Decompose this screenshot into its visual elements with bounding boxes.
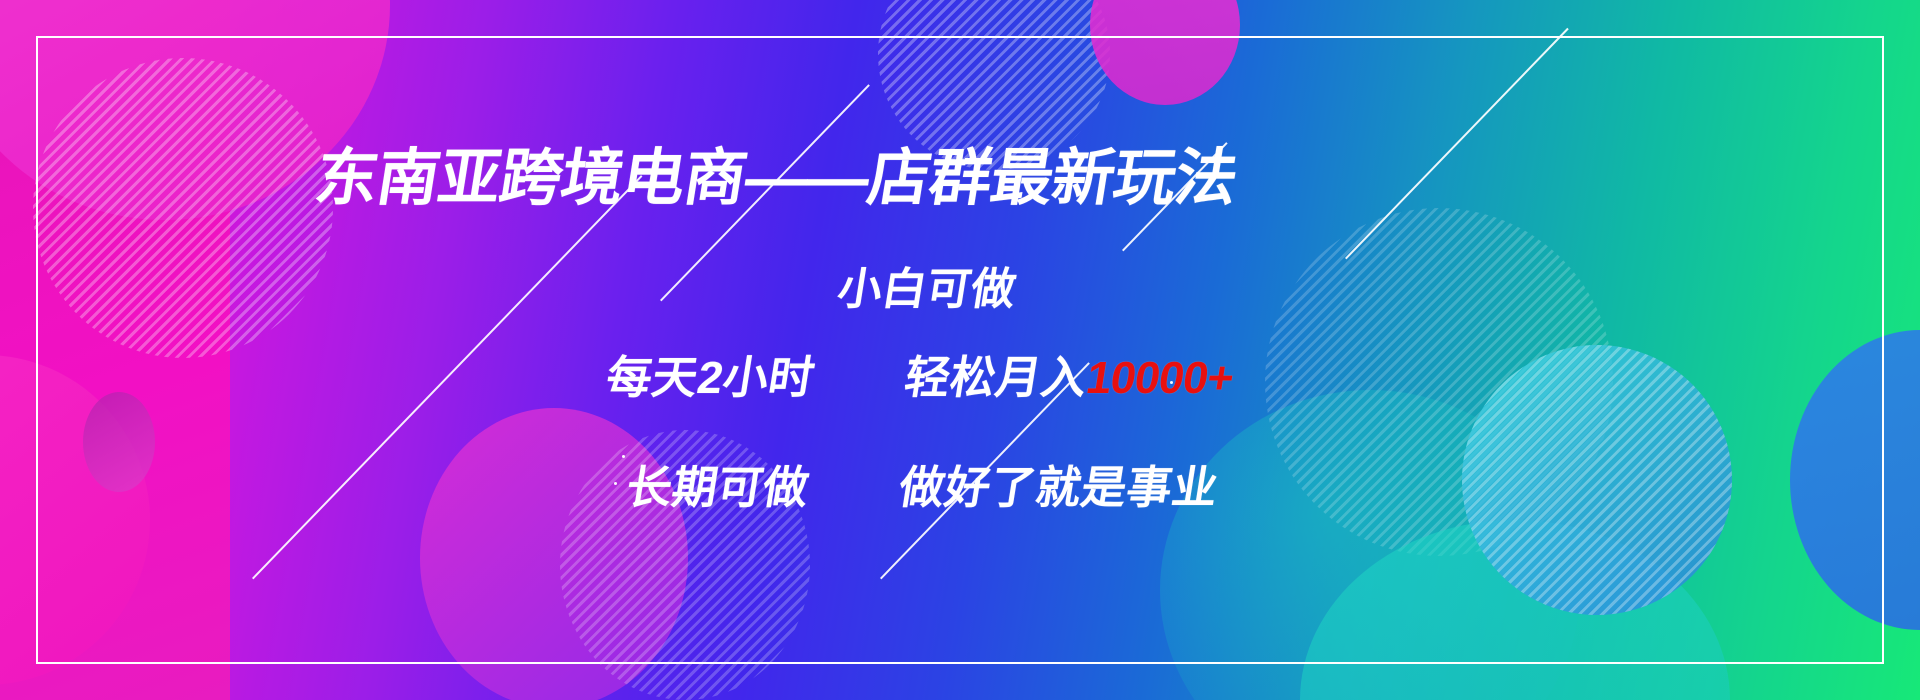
subheadline-2-spacer bbox=[810, 352, 909, 403]
subheadline-3-part-a: 长期可做 bbox=[623, 462, 813, 513]
income-highlight: 10000+ bbox=[1083, 352, 1237, 403]
banner-copy: 东南亚跨境电商——店群最新玩法 小白可做 每天2小时 轻松月入10000+ 长期… bbox=[0, 0, 1920, 700]
promo-banner: 东南亚跨境电商——店群最新玩法 小白可做 每天2小时 轻松月入10000+ 长期… bbox=[0, 0, 1920, 700]
subheadline-3: 长期可做 做好了就是事业 bbox=[623, 465, 1221, 510]
subheadline-2-part-a: 每天2小时 bbox=[603, 352, 818, 403]
subheadline-2: 每天2小时 轻松月入10000+ bbox=[603, 355, 1236, 400]
subheadline-2-part-b: 轻松月入 bbox=[901, 352, 1091, 403]
subheadline-3-part-b: 做好了就是事业 bbox=[896, 462, 1222, 513]
headline: 东南亚跨境电商——店群最新玩法 bbox=[311, 148, 1242, 210]
subheadline-1: 小白可做 bbox=[835, 268, 1020, 312]
subheadline-3-spacer bbox=[805, 462, 904, 513]
